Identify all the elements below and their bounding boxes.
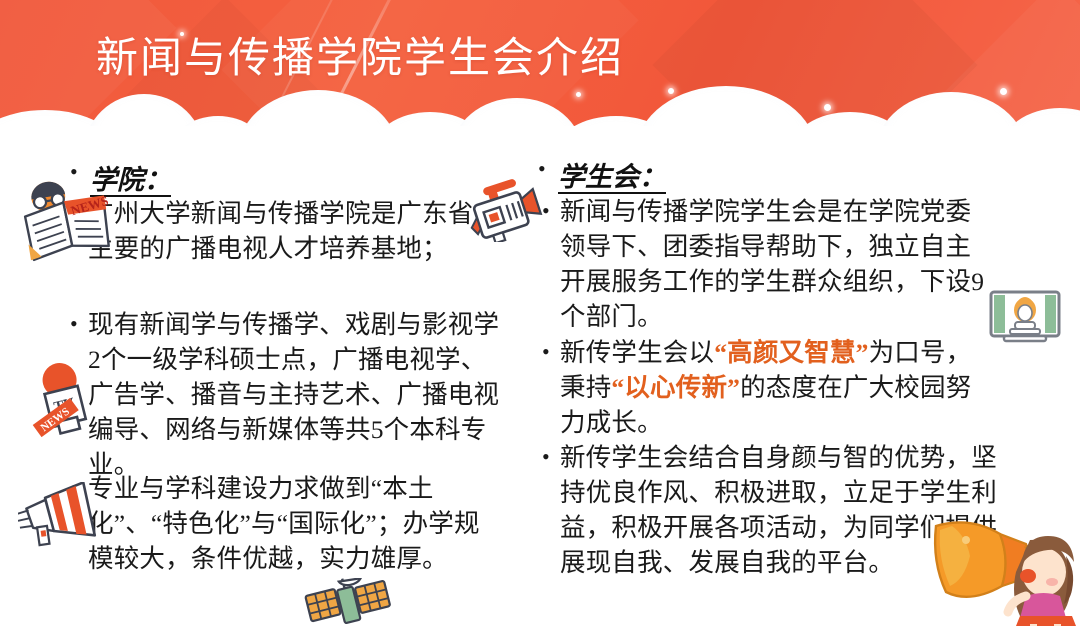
- slogan-highlight: “高颜又智慧”: [714, 338, 868, 367]
- tv-microphone-icon: TV NEWS: [22, 358, 102, 438]
- sparkle-icon: [1000, 88, 1007, 95]
- right-section-heading-wrap: • 学生会：: [558, 155, 666, 194]
- cloud-base: [0, 126, 1080, 150]
- right-bullet-2-text: 新传学生会以“高颜又智慧”为口号，秉持“以心传新”的态度在广大校园努力成长。: [560, 335, 994, 440]
- slogan-highlight: “以心传新”: [611, 373, 740, 402]
- sparkle-icon: [108, 122, 112, 126]
- cloud-decoration: [0, 72, 1080, 150]
- right-bullet-1-text: 新闻与传播学院学生会是在学院党委领导下、团委指导帮助下，独立自主开展服务工作的学…: [560, 194, 994, 334]
- megaphone-outline-icon: [18, 482, 102, 554]
- sparkle-icon: [180, 32, 184, 36]
- left-bullet-3: • 专业与学科建设力求做到“本土化”、“特色化”与“国际化”；办学规模较大，条件…: [70, 471, 500, 576]
- newspaper-reader-icon: NEWS: [22, 176, 114, 262]
- bullet-marker: •: [542, 335, 560, 369]
- left-bullet-1-text: 广州大学新闻与传播学院是广东省主要的广播电视人才培养基地；: [88, 196, 490, 266]
- left-bullet-2: • 现有新闻学与传播学、戏剧与影视学2个一级学科硕士点，广播电视学、广告学、播音…: [70, 307, 500, 482]
- header-banner: 新闻与传播学院学生会介绍: [0, 0, 1080, 150]
- right-bullet-1: • 新闻与传播学院学生会是在学院党委领导下、团委指导帮助下，独立自主开展服务工作…: [542, 194, 994, 334]
- right-bullet-2: • 新传学生会以“高颜又智慧”为口号，秉持“以心传新”的态度在广大校园努力成长。: [542, 335, 994, 440]
- satellite-icon: [300, 578, 396, 626]
- left-bullet-3-text: 专业与学科建设力求做到“本土化”、“特色化”与“国际化”；办学规模较大，条件优越…: [88, 471, 500, 576]
- left-bullet-2-text: 现有新闻学与传播学、戏剧与影视学2个一级学科硕士点，广播电视学、广告学、播音与主…: [88, 307, 500, 482]
- sparkle-icon: [668, 88, 674, 94]
- right-section-heading: 学生会：: [558, 155, 666, 194]
- slide-root: 新闻与传播学院学生会介绍 • 学院： •: [0, 0, 1080, 626]
- sparkle-icon: [576, 92, 581, 97]
- left-bullet-1: • 广州大学新闻与传播学院是广东省主要的广播电视人才培养基地；: [70, 196, 490, 266]
- paragraph-text: 新传学生会以: [560, 338, 714, 367]
- sparkle-icon: [824, 104, 831, 111]
- video-camera-icon: [468, 178, 546, 242]
- bullet-marker: •: [542, 440, 560, 474]
- tv-anchor-icon: [988, 288, 1062, 350]
- girl-with-megaphone-illustration: [930, 500, 1080, 626]
- bullet-marker: •: [70, 307, 88, 341]
